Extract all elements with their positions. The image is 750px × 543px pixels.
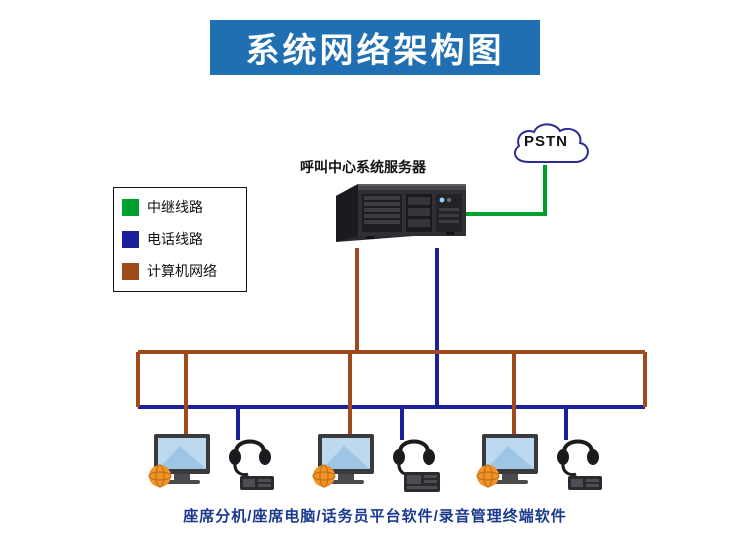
legend: 中继线路 电话线路 计算机网络 xyxy=(113,187,247,292)
brown-square-icon xyxy=(122,263,139,280)
workstation-2 xyxy=(304,432,454,492)
legend-label-2: 计算机网络 xyxy=(147,261,217,281)
bottom-caption: 座席分机/座席电脑/话务员平台软件/录音管理终端软件 xyxy=(0,505,750,526)
workstation-1 xyxy=(140,432,290,492)
legend-label-0: 中继线路 xyxy=(147,197,203,217)
legend-item-2: 计算机网络 xyxy=(122,261,217,281)
blue-square-icon xyxy=(122,231,139,248)
legend-item-1: 电话线路 xyxy=(122,229,203,249)
green-square-icon xyxy=(122,199,139,216)
cloud-label: PSTN xyxy=(524,133,568,150)
legend-label-1: 电话线路 xyxy=(147,229,203,249)
trunk-line-to-pstn xyxy=(466,165,545,214)
server-label: 呼叫中心系统服务器 xyxy=(300,157,426,177)
workstation-3 xyxy=(468,432,618,492)
diagram-canvas: 系统网络架构图 中继线路 电话线路 xyxy=(0,0,750,543)
rack-server-icon xyxy=(336,180,466,242)
legend-item-0: 中继线路 xyxy=(122,197,203,217)
